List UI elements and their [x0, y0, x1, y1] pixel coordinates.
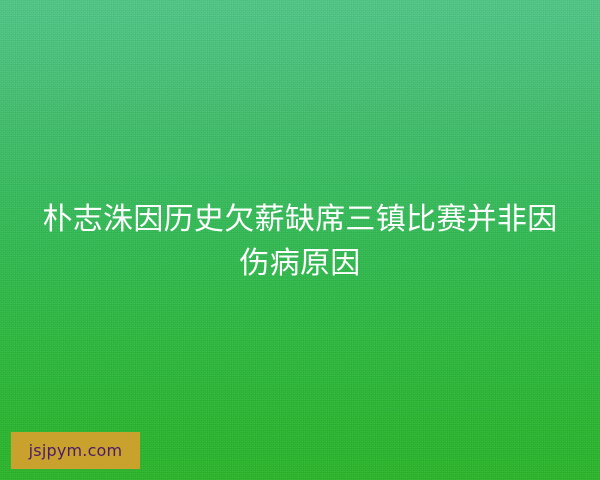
watermark-badge: jsjpym.com — [11, 432, 140, 469]
watermark-text: jsjpym.com — [29, 443, 123, 459]
background-gradient — [0, 0, 600, 480]
news-image-card: 朴志洙因历史欠薪缺席三镇比赛并非因伤病原因 jsjpym.com — [0, 0, 600, 480]
